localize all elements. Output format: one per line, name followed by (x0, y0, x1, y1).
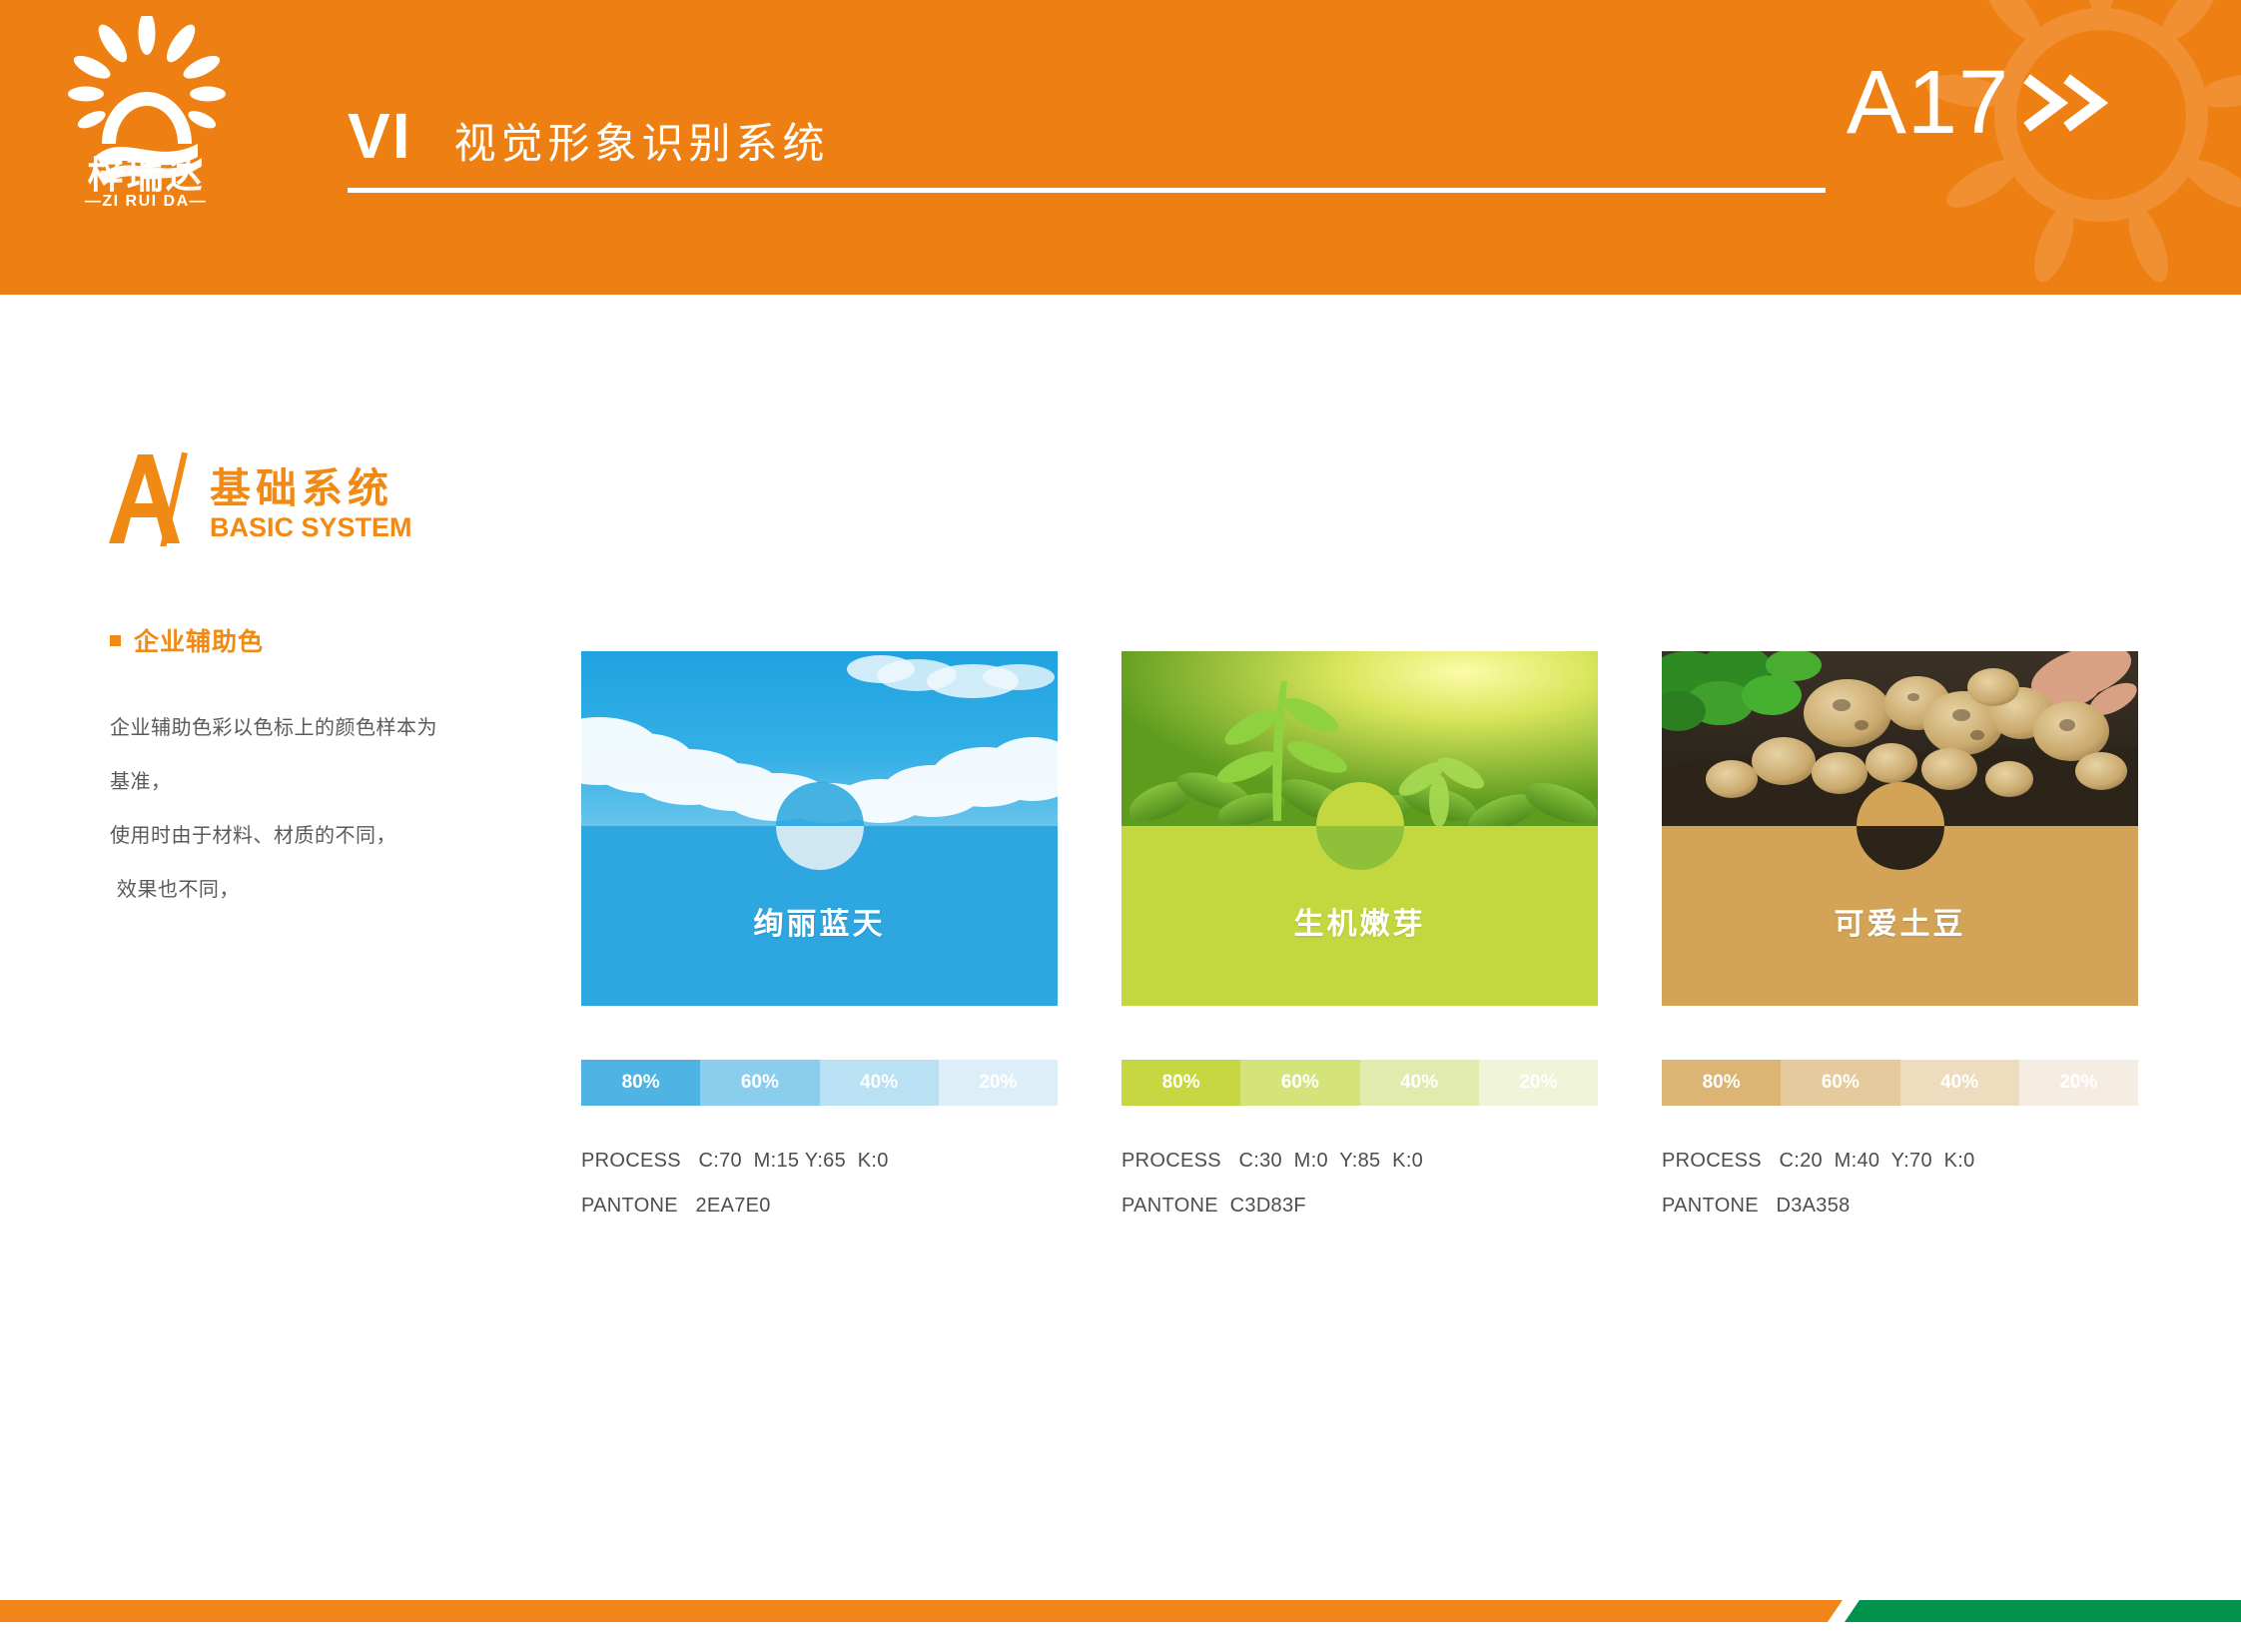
footer-orange-bar (0, 1600, 1843, 1622)
tint-swatch[interactable]: 20% (939, 1060, 1058, 1106)
left-column: 企业辅助色 企业辅助色彩以色标上的颜色样本为 基准， 使用时由于材料、材质的不同… (110, 622, 529, 916)
tint-scale: 80% 60% 40% 20% (1662, 1060, 2138, 1106)
tint-label: 60% (1822, 1072, 1860, 1094)
square-bullet-icon (110, 635, 121, 646)
subsection-heading-label: 企业辅助色 (134, 622, 264, 658)
tint-swatch[interactable]: 80% (1662, 1060, 1781, 1106)
color-card-visual: 绚丽蓝天 (581, 651, 1058, 1006)
color-card-name: 可爱土豆 (1662, 899, 2138, 943)
process-spec: PROCESS C:30 M:0 Y:85 K:0 (1121, 1150, 1598, 1173)
tint-swatch[interactable]: 20% (1479, 1060, 1598, 1106)
subsection-heading: 企业辅助色 (110, 622, 529, 658)
tint-scale: 80% 60% 40% 20% (1121, 1060, 1598, 1106)
tint-swatch[interactable]: 40% (1900, 1060, 2019, 1106)
description-line: 效果也不同， (110, 862, 529, 916)
color-specs: PROCESS C:70 M:15 Y:65 K:0 PANTONE 2EA7E… (581, 1150, 1058, 1218)
header-rule (348, 188, 1826, 193)
tint-label: 20% (979, 1072, 1017, 1094)
color-card: 可爱土豆 80% 60% 40% 20% PROCESS C:20 M:40 Y… (1662, 651, 2138, 1239)
vi-mark: VI (348, 104, 411, 168)
footer-green-bar (1845, 1600, 2241, 1622)
tint-label: 40% (1400, 1072, 1438, 1094)
logo-sunrise-icon: 梓瑞达 —ZI RUI DA— (46, 16, 246, 206)
tint-swatch[interactable]: 60% (1240, 1060, 1359, 1106)
pantone-spec: PANTONE 2EA7E0 (581, 1195, 1058, 1218)
vi-subtitle: 视觉形象识别系统 (453, 123, 829, 165)
color-card-visual: 生机嫩芽 (1121, 651, 1598, 1006)
tint-label: 60% (1281, 1072, 1319, 1094)
color-card-name: 生机嫩芽 (1121, 899, 1598, 943)
section-letter-a-icon (108, 451, 200, 551)
tint-label: 20% (1519, 1072, 1557, 1094)
process-spec: PROCESS C:70 M:15 Y:65 K:0 (581, 1150, 1058, 1173)
pantone-spec: PANTONE C3D83F (1121, 1195, 1598, 1218)
tint-scale: 80% 60% 40% 20% (581, 1060, 1058, 1106)
section-title: 基础系统 BASIC SYSTEM (108, 451, 412, 551)
description-line: 企业辅助色彩以色标上的颜色样本为 (110, 700, 529, 754)
color-specs: PROCESS C:30 M:0 Y:85 K:0 PANTONE C3D83F (1121, 1150, 1598, 1218)
description-line: 使用时由于材料、材质的不同， (110, 808, 529, 862)
header-title-group: VI 视觉形象识别系统 (348, 104, 1905, 193)
color-card-name: 绚丽蓝天 (581, 899, 1058, 943)
logo-chinese-wordmark: 梓瑞达 (88, 154, 205, 197)
process-spec: PROCESS C:20 M:40 Y:70 K:0 (1662, 1150, 2138, 1173)
page-header: 梓瑞达 —ZI RUI DA— VI 视觉形象识别系统 A17 (0, 0, 2241, 295)
double-chevron-right-icon (2023, 72, 2109, 134)
tint-swatch[interactable]: 60% (700, 1060, 819, 1106)
tint-swatch[interactable]: 60% (1781, 1060, 1899, 1106)
tint-label: 80% (622, 1072, 660, 1094)
description-text: 企业辅助色彩以色标上的颜色样本为 基准， 使用时由于材料、材质的不同， 效果也不… (110, 700, 529, 916)
tint-label: 80% (1703, 1072, 1741, 1094)
tint-label: 60% (741, 1072, 779, 1094)
page-code-text: A17 (1847, 58, 2009, 148)
color-card-circle (776, 782, 864, 870)
color-card-circle (1316, 782, 1404, 870)
color-card: 生机嫩芽 80% 60% 40% 20% PROCESS C:30 M:0 Y:… (1121, 651, 1598, 1239)
company-logo[interactable]: 梓瑞达 —ZI RUI DA— (46, 16, 246, 206)
section-title-cn: 基础系统 (210, 466, 412, 511)
pantone-spec: PANTONE D3A358 (1662, 1195, 2138, 1218)
tint-swatch[interactable]: 40% (820, 1060, 939, 1106)
page-footer (0, 1582, 2241, 1652)
tint-label: 20% (2059, 1072, 2097, 1094)
color-card-visual: 可爱土豆 (1662, 651, 2138, 1006)
tint-label: 80% (1162, 1072, 1200, 1094)
tint-swatch[interactable]: 80% (1121, 1060, 1240, 1106)
color-cards: 绚丽蓝天 80% 60% 40% 20% PROCESS C:70 M:15 Y… (581, 651, 2139, 1239)
description-line: 基准， (110, 754, 529, 808)
section-title-en: BASIC SYSTEM (210, 512, 412, 543)
logo-pinyin-wordmark: —ZI RUI DA— (85, 193, 207, 206)
tint-label: 40% (1940, 1072, 1978, 1094)
color-card: 绚丽蓝天 80% 60% 40% 20% PROCESS C:70 M:15 Y… (581, 651, 1058, 1239)
tint-label: 40% (860, 1072, 898, 1094)
tint-swatch[interactable]: 80% (581, 1060, 700, 1106)
color-card-circle (1857, 782, 1944, 870)
page-code: A17 (1847, 58, 2109, 148)
color-specs: PROCESS C:20 M:40 Y:70 K:0 PANTONE D3A35… (1662, 1150, 2138, 1218)
tint-swatch[interactable]: 40% (1360, 1060, 1479, 1106)
tint-swatch[interactable]: 20% (2019, 1060, 2138, 1106)
